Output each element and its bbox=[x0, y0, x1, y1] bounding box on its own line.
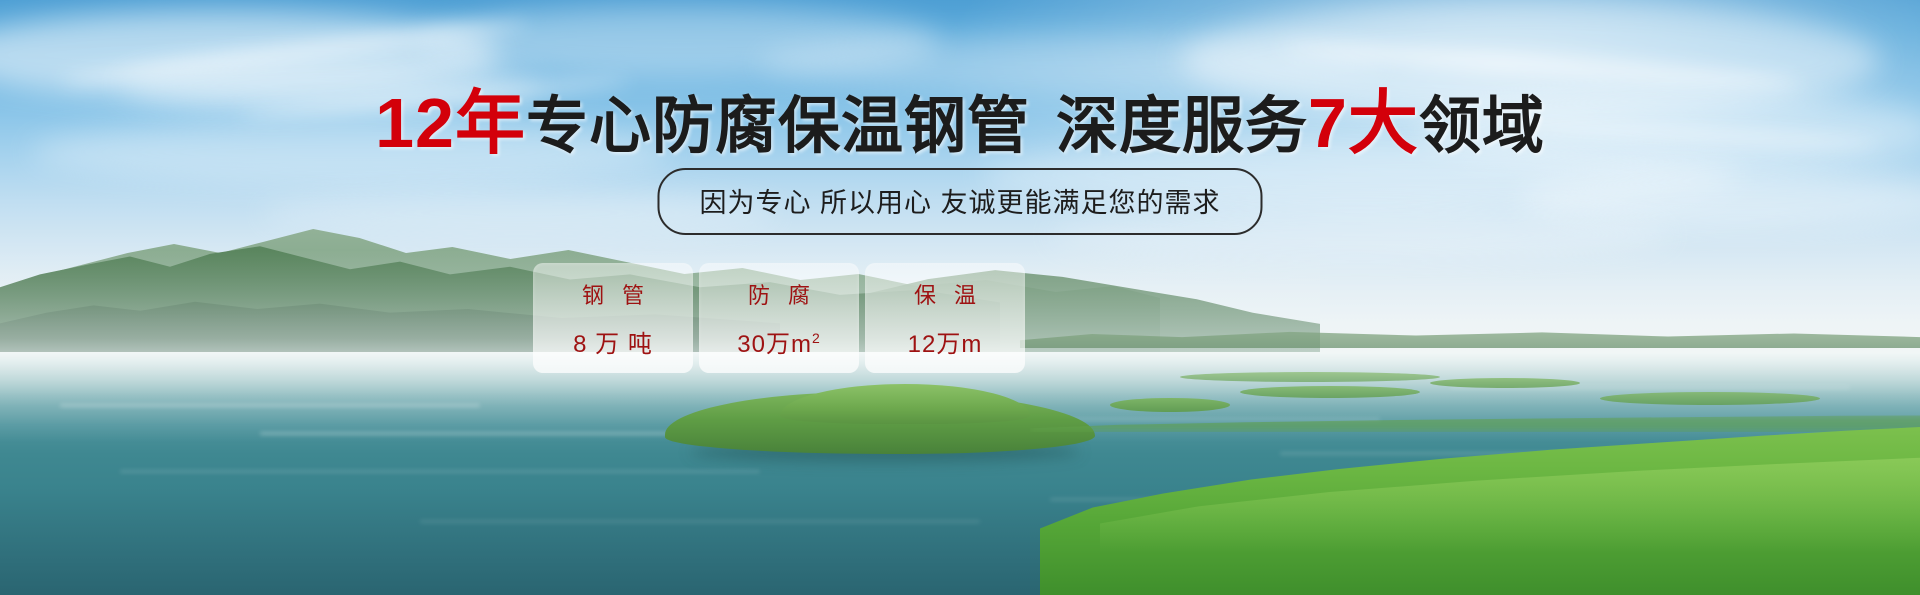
headline-fields-number: 7 bbox=[1308, 84, 1348, 162]
stat-card-steel-pipe[interactable]: 钢 管 8 万 吨 bbox=[533, 263, 693, 373]
stat-card-anticorrosion[interactable]: 防 腐 30万m2 bbox=[699, 263, 859, 373]
stat-card-value-text: 30万m bbox=[737, 331, 812, 358]
islet bbox=[1600, 392, 1820, 405]
banner-headline: 12年专心防腐保温钢管深度服务7大领域 bbox=[0, 88, 1920, 158]
stat-card-value: 8 万 吨 bbox=[573, 324, 653, 359]
headline-years-number: 12 bbox=[375, 84, 455, 162]
stat-cards: 钢 管 8 万 吨 防 腐 30万m2 保 温 12万m bbox=[533, 263, 1025, 373]
islet bbox=[1430, 378, 1580, 388]
stat-card-value-sup: 2 bbox=[812, 330, 821, 346]
water-ripple bbox=[60, 404, 480, 407]
headline-years-unit: 年 bbox=[455, 84, 526, 162]
islet bbox=[1240, 386, 1420, 398]
hero-banner: 12年专心防腐保温钢管深度服务7大领域 因为专心 所以用心 友诚更能满足您的需求… bbox=[0, 0, 1920, 595]
stat-card-insulation[interactable]: 保 温 12万m bbox=[865, 263, 1025, 373]
banner-subtitle-pill: 因为专心 所以用心 友诚更能满足您的需求 bbox=[657, 168, 1262, 235]
stat-card-label: 钢 管 bbox=[576, 278, 650, 310]
islet bbox=[1180, 372, 1440, 382]
headline-service-text: 深度服务 bbox=[1056, 92, 1308, 161]
stat-card-label: 防 腐 bbox=[742, 278, 816, 310]
stat-card-label: 保 温 bbox=[908, 278, 982, 310]
stat-card-value-text: 12万m bbox=[908, 331, 983, 358]
water-ripple bbox=[120, 470, 760, 473]
headline-main-text: 专心防腐保温钢管 bbox=[526, 92, 1030, 161]
islet bbox=[1110, 398, 1230, 412]
headline-fields-text: 领域 bbox=[1419, 92, 1545, 161]
water-ripple bbox=[420, 520, 980, 523]
stat-card-value: 12万m bbox=[908, 324, 983, 359]
headline-fields-unit: 大 bbox=[1348, 84, 1419, 162]
stat-card-value: 30万m2 bbox=[737, 324, 820, 359]
stat-card-value-text: 8 万 吨 bbox=[573, 331, 653, 358]
